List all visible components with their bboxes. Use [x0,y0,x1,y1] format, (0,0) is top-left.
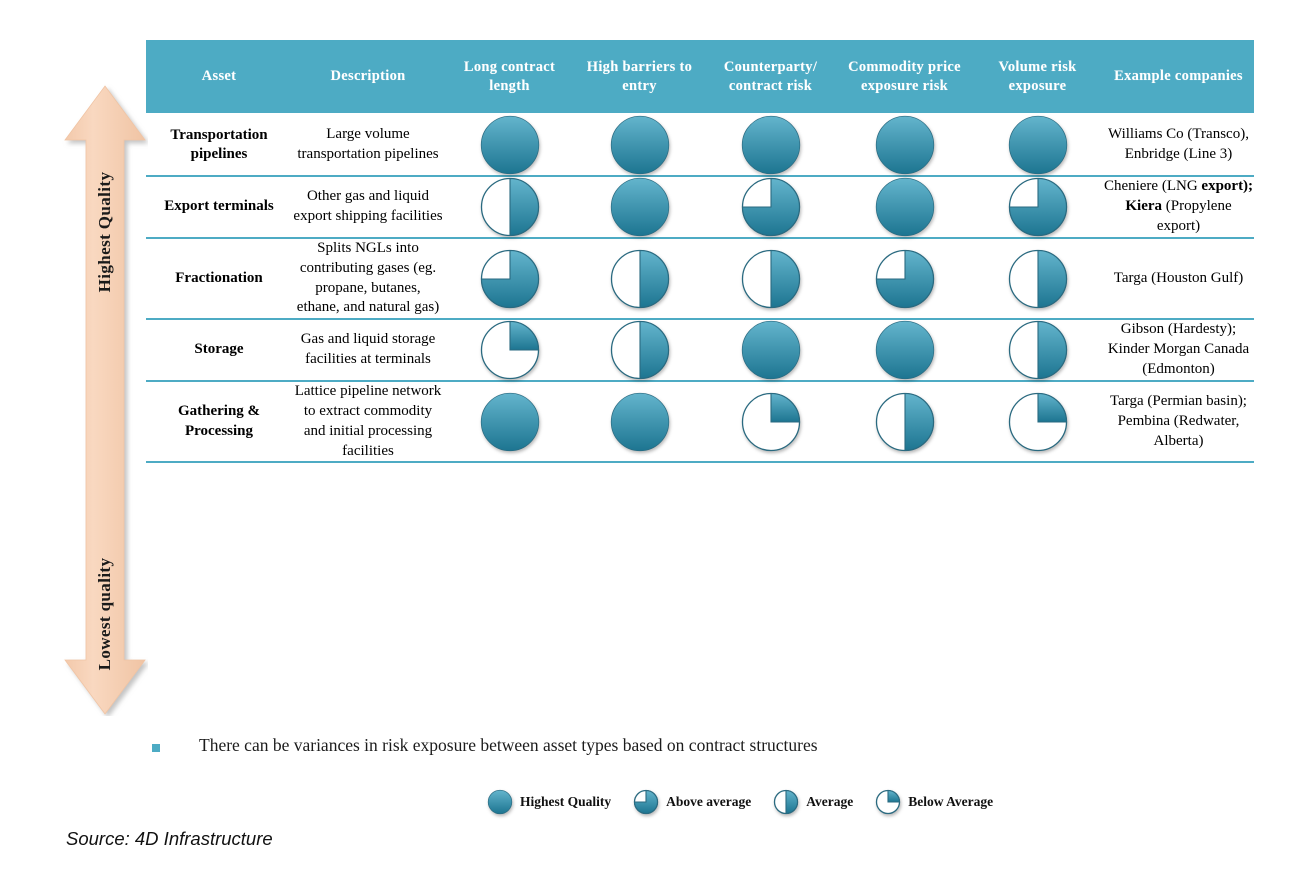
pie-indicator-below-average [741,392,801,452]
cell-asset: Gathering & Processing [146,381,292,462]
pie-indicator-below-average [875,789,901,815]
cell-description: Other gas and liquid export shipping fac… [292,176,444,238]
cell-score [575,381,704,462]
pie-indicator-average [1008,320,1068,380]
pie-indicator-above-average [1008,177,1068,237]
pie-indicator-above-average [480,249,540,309]
cell-score [704,238,837,319]
pie-indicator-average [480,177,540,237]
cell-score [837,319,972,381]
pie-indicator-average [741,249,801,309]
cell-score [704,381,837,462]
column-header-counterparty-contract-risk: Counterparty/ contract risk [704,38,837,115]
column-header-high-barriers-to-entry: High barriers to entry [575,38,704,115]
column-header-volume-risk-exposure: Volume risk exposure [972,38,1103,115]
pie-indicator-average [773,789,799,815]
pie-indicator-highest-quality [480,115,540,175]
cell-score [575,238,704,319]
cell-example-companies: Cheniere (LNG export); Kiera (Propylene … [1103,176,1254,238]
legend-item: Highest Quality [487,789,633,815]
cell-score [972,176,1103,238]
cell-asset: Storage [146,319,292,381]
cell-score [704,176,837,238]
legend-item: Above average [633,789,773,815]
note-row: There can be variances in risk exposure … [152,735,818,757]
pie-indicator-above-average [875,249,935,309]
legend-item: Below Average [875,789,993,815]
legend-item: Average [773,789,875,815]
column-header-asset: Asset [146,38,292,115]
source-caption: Source: 4D Infrastructure [66,828,273,850]
pie-indicator-above-average [741,177,801,237]
pie-indicator-highest-quality [610,392,670,452]
table-header-row: Asset Description Long contract length H… [146,38,1254,115]
pie-indicator-highest-quality [741,115,801,175]
pie-indicator-highest-quality [480,392,540,452]
cell-score [444,319,575,381]
cell-score [575,176,704,238]
legend-label: Below Average [908,794,993,810]
cell-score [837,238,972,319]
cell-score [972,319,1103,381]
legend-label: Highest Quality [520,794,611,810]
cell-score [972,115,1103,176]
pie-indicator-average [610,320,670,380]
cell-example-companies: Gibson (Hardesty); Kinder Morgan Canada … [1103,319,1254,381]
table-row: Transportation pipelinesLarge volume tra… [146,115,1254,176]
column-header-example-companies: Example companies [1103,38,1254,115]
pie-indicator-above-average [633,789,659,815]
cell-score [837,115,972,176]
table-body: Transportation pipelinesLarge volume tra… [146,115,1254,462]
cell-example-companies: Williams Co (Transco), Enbridge (Line 3) [1103,115,1254,176]
pie-indicator-highest-quality [875,320,935,380]
column-header-commodity-price-exposure-risk: Commodity price exposure risk [837,38,972,115]
legend-label: Average [806,794,853,810]
cell-score [444,238,575,319]
pie-indicator-below-average [480,320,540,380]
pie-indicator-below-average [1008,392,1068,452]
cell-score [837,381,972,462]
quality-direction-arrow: Highest Quality Lowest quality [62,84,148,716]
pie-indicator-highest-quality [875,115,935,175]
pie-indicator-average [1008,249,1068,309]
column-header-description: Description [292,38,444,115]
cell-score [444,115,575,176]
arrow-label-lowest-quality: Lowest quality [95,558,115,671]
arrow-label-highest-quality: Highest Quality [95,172,115,293]
cell-score [575,115,704,176]
cell-score [444,381,575,462]
cell-description: Splits NGLs into contributing gases (eg.… [292,238,444,319]
pie-indicator-highest-quality [610,177,670,237]
pie-indicator-average [875,392,935,452]
cell-asset: Fractionation [146,238,292,319]
table-row: FractionationSplits NGLs into contributi… [146,238,1254,319]
square-bullet-icon [152,744,160,752]
cell-description: Large volume transportation pipelines [292,115,444,176]
pie-indicator-highest-quality [487,789,513,815]
cell-description: Gas and liquid storage facilities at ter… [292,319,444,381]
table-row: StorageGas and liquid storage facilities… [146,319,1254,381]
table-row: Gathering & ProcessingLattice pipeline n… [146,381,1254,462]
cell-score [837,176,972,238]
cell-score [444,176,575,238]
asset-quality-matrix-table: Asset Description Long contract length H… [146,38,1254,463]
legend-label: Above average [666,794,751,810]
cell-example-companies: Targa (Houston Gulf) [1103,238,1254,319]
column-header-long-contract-length: Long contract length [444,38,575,115]
cell-example-companies: Targa (Permian basin); Pembina (Redwater… [1103,381,1254,462]
cell-score [972,381,1103,462]
pie-indicator-highest-quality [741,320,801,380]
pie-indicator-highest-quality [610,115,670,175]
cell-score [704,115,837,176]
pie-indicator-highest-quality [1008,115,1068,175]
cell-score [575,319,704,381]
cell-description: Lattice pipeline network to extract comm… [292,381,444,462]
pie-indicator-highest-quality [875,177,935,237]
note-text: There can be variances in risk exposure … [199,735,818,757]
cell-asset: Transportation pipelines [146,115,292,176]
legend: Highest QualityAbove averageAverageBelow… [487,789,993,815]
cell-score [704,319,837,381]
cell-score [972,238,1103,319]
pie-indicator-average [610,249,670,309]
table-row: Export terminalsOther gas and liquid exp… [146,176,1254,238]
cell-asset: Export terminals [146,176,292,238]
